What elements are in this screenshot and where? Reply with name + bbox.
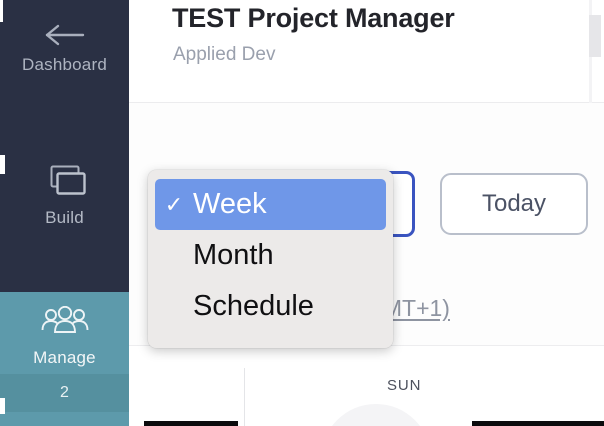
dropdown-option-week[interactable]: ✓ Week xyxy=(155,179,386,230)
sidebar-item-label: Manage xyxy=(33,348,96,368)
window-edge-artifact xyxy=(0,155,5,174)
windows-stack-icon xyxy=(43,163,87,201)
vertical-scrollbar-thumb[interactable] xyxy=(589,15,601,57)
sidebar-item-build[interactable]: Build xyxy=(0,150,129,240)
checkmark-icon-placeholder xyxy=(155,245,193,267)
calendar-event-bar[interactable] xyxy=(144,421,238,426)
back-arrow-icon xyxy=(44,22,86,48)
view-mode-dropdown-menu[interactable]: ✓ Week Month Schedule xyxy=(148,170,393,348)
calendar-event-bar[interactable] xyxy=(472,421,604,426)
sidebar-item-badge: 2 xyxy=(0,374,129,412)
people-group-icon xyxy=(40,306,90,338)
app-root: TEST Project Manager Applied Dev Today L… xyxy=(0,0,604,426)
sidebar-item-label: Dashboard xyxy=(22,55,107,75)
dropdown-option-schedule[interactable]: Schedule xyxy=(155,281,386,332)
dropdown-option-month[interactable]: Month xyxy=(155,230,386,281)
calendar-week-strip: SUN xyxy=(129,345,604,426)
sidebar-item-label: Build xyxy=(45,208,84,228)
page-title: TEST Project Manager xyxy=(172,3,455,34)
window-edge-artifact xyxy=(0,0,3,22)
calendar-column-divider xyxy=(244,368,245,426)
checkmark-icon-placeholder xyxy=(155,296,193,318)
page-header: TEST Project Manager Applied Dev xyxy=(129,0,604,103)
page-subtitle: Applied Dev xyxy=(173,44,275,66)
dropdown-option-label: Month xyxy=(193,239,274,272)
window-edge-artifact xyxy=(0,398,5,414)
sidebar: Dashboard Build xyxy=(0,0,129,426)
sidebar-item-manage[interactable]: Manage 2 xyxy=(0,292,129,426)
sidebar-item-dashboard[interactable]: Dashboard xyxy=(0,6,129,90)
dropdown-option-label: Schedule xyxy=(193,290,314,323)
checkmark-icon: ✓ xyxy=(155,194,193,216)
today-button[interactable]: Today xyxy=(440,173,588,235)
calendar-day-label-sun: SUN xyxy=(387,377,421,394)
dropdown-option-label: Week xyxy=(193,188,267,221)
calendar-highlight-blob xyxy=(321,404,431,426)
